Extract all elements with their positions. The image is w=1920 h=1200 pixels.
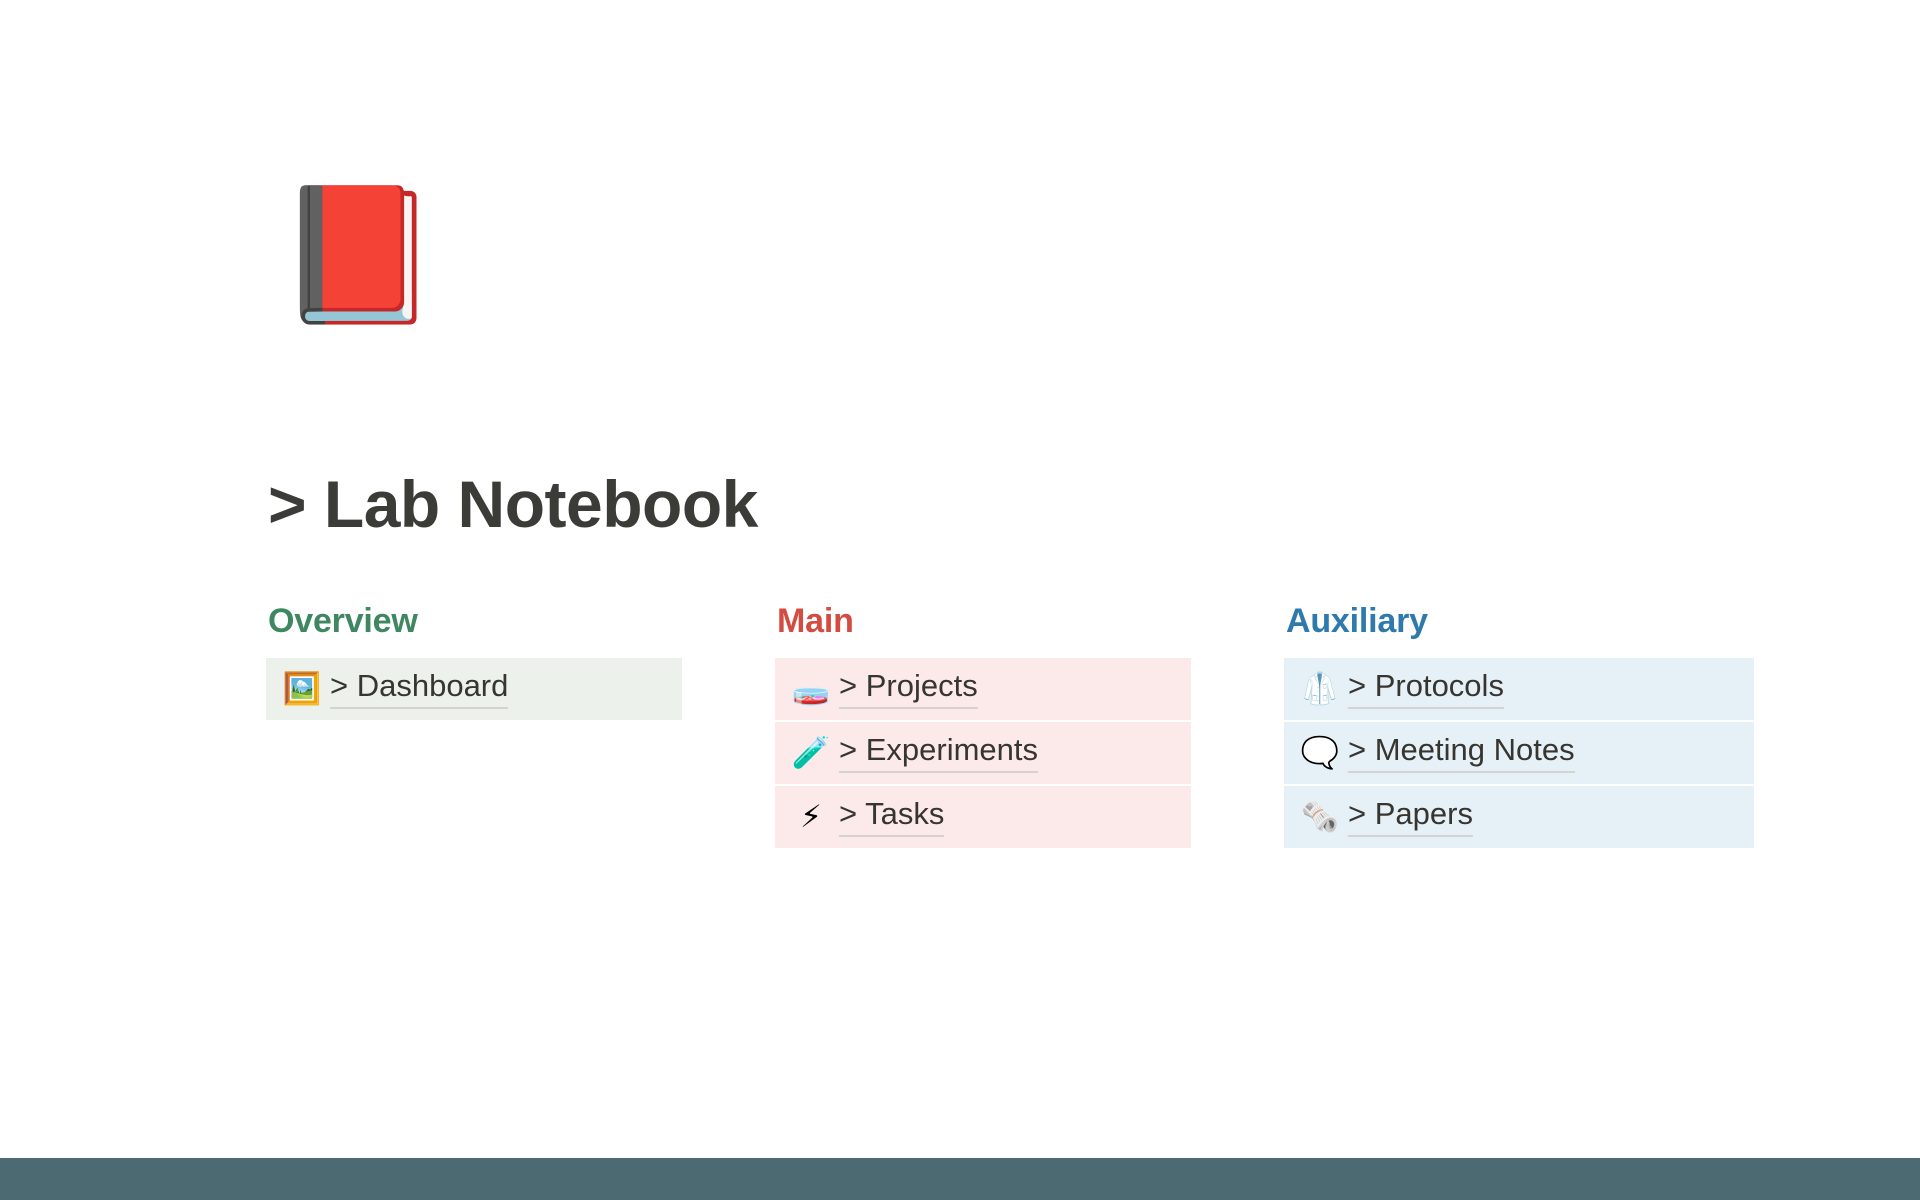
- page-link-experiments[interactable]: > Experiments: [839, 733, 1038, 772]
- list-item[interactable]: 🧫 > Projects: [775, 658, 1191, 720]
- item-list-main: 🧫 > Projects 🧪 > Experiments ⚡ > Tasks: [775, 658, 1191, 848]
- rolled-up-newspaper-emoji: 🗞️: [1298, 802, 1342, 833]
- lab-coat-emoji: 🥼: [1298, 674, 1342, 705]
- page-link-tasks[interactable]: > Tasks: [839, 797, 944, 836]
- list-item[interactable]: 🗞️ > Papers: [1284, 786, 1754, 848]
- list-item[interactable]: 🗨️ > Meeting Notes: [1284, 722, 1754, 784]
- petri-dish-emoji: 🧫: [789, 674, 833, 705]
- list-item[interactable]: 🖼️ > Dashboard: [266, 658, 682, 720]
- closed-book-emoji[interactable]: 📕: [276, 180, 426, 330]
- page-link-protocols[interactable]: > Protocols: [1348, 669, 1504, 708]
- page-link-papers[interactable]: > Papers: [1348, 797, 1473, 836]
- list-item[interactable]: 🥼 > Protocols: [1284, 658, 1754, 720]
- column-main: Main 🧫 > Projects 🧪 > Experiments ⚡ > Ta…: [775, 604, 1191, 848]
- bottom-bar: [0, 1158, 1920, 1200]
- page-title: > Lab Notebook: [268, 471, 758, 537]
- column-heading-overview: Overview: [268, 604, 682, 638]
- column-heading-main: Main: [777, 604, 1191, 638]
- column-container: Overview 🖼️ > Dashboard Main 🧫 > Project…: [266, 604, 1756, 848]
- page-link-meeting-notes[interactable]: > Meeting Notes: [1348, 733, 1575, 772]
- test-tube-emoji: 🧪: [789, 738, 833, 769]
- item-list-auxiliary: 🥼 > Protocols 🗨️ > Meeting Notes 🗞️ > Pa…: [1284, 658, 1754, 848]
- notebook-page: 📕 > Lab Notebook Overview 🖼️ > Dashboard…: [0, 0, 1920, 1200]
- list-item[interactable]: 🧪 > Experiments: [775, 722, 1191, 784]
- page-link-projects[interactable]: > Projects: [839, 669, 978, 708]
- column-overview: Overview 🖼️ > Dashboard: [266, 604, 682, 720]
- page-link-dashboard[interactable]: > Dashboard: [330, 669, 508, 708]
- framed-picture-emoji: 🖼️: [280, 674, 324, 705]
- speech-balloon-emoji: 🗨️: [1298, 738, 1342, 769]
- column-auxiliary: Auxiliary 🥼 > Protocols 🗨️ > Meeting Not…: [1284, 604, 1754, 848]
- high-voltage-emoji: ⚡: [789, 802, 833, 833]
- item-list-overview: 🖼️ > Dashboard: [266, 658, 682, 720]
- list-item[interactable]: ⚡ > Tasks: [775, 786, 1191, 848]
- column-heading-auxiliary: Auxiliary: [1286, 604, 1754, 638]
